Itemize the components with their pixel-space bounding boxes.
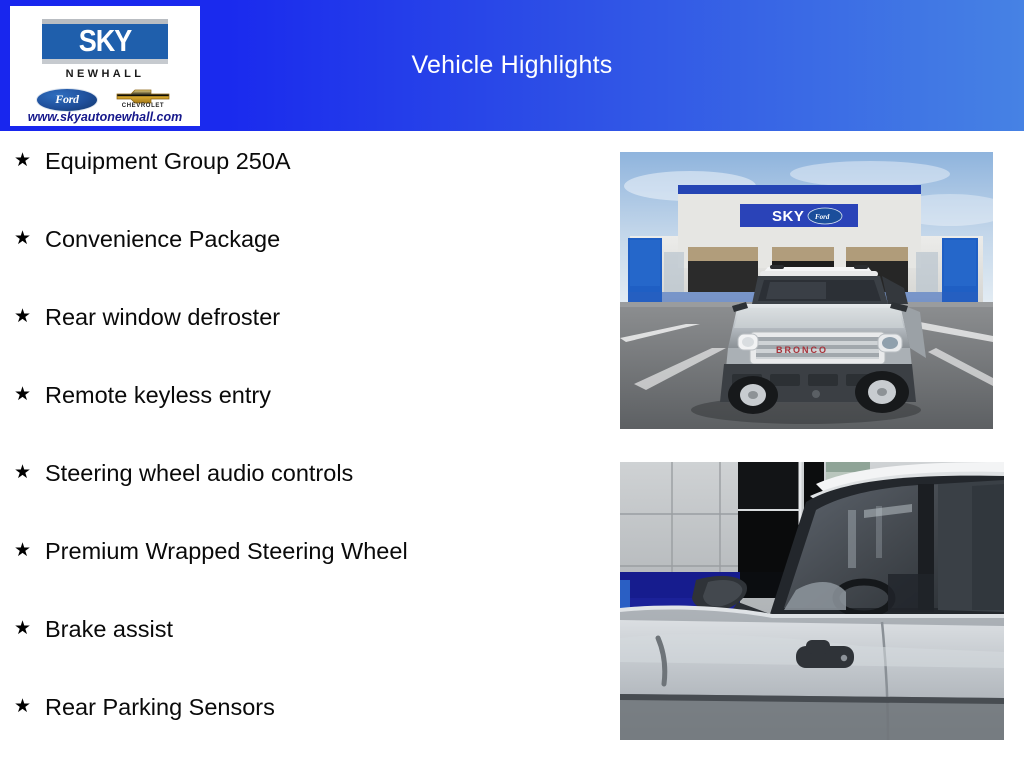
vehicle-side-illustration	[620, 462, 1004, 740]
star-icon: ★	[14, 614, 45, 644]
list-item-label: Equipment Group 250A	[45, 146, 291, 176]
star-icon: ★	[14, 224, 45, 254]
chevrolet-bowtie-icon	[115, 88, 171, 104]
list-item: ★ Rear window defroster	[0, 302, 600, 380]
vehicle-front-illustration: SKY Ford	[620, 152, 993, 429]
list-item-label: Convenience Package	[45, 224, 280, 254]
star-icon: ★	[14, 536, 45, 566]
list-item: ★ Brake assist	[0, 614, 600, 692]
list-item: ★ Premium Wrapped Steering Wheel	[0, 536, 600, 614]
vehicle-highlights-list: ★ Equipment Group 250A ★ Convenience Pac…	[0, 146, 600, 770]
star-icon: ★	[14, 146, 45, 176]
list-item-label: Rear window defroster	[45, 302, 280, 332]
svg-text:BRONCO: BRONCO	[776, 345, 828, 355]
list-item-label: Premium Wrapped Steering Wheel	[45, 536, 408, 566]
list-item: ★ Steering wheel audio controls	[0, 458, 600, 536]
dealer-logo: SKY NEWHALL Ford	[10, 6, 200, 126]
star-icon: ★	[14, 302, 45, 332]
chevrolet-badge: CHEVROLET	[112, 87, 174, 113]
vehicle-side-photo	[620, 462, 1004, 740]
svg-text:SKY: SKY	[772, 208, 804, 225]
list-item: ★ Remote keyless entry	[0, 380, 600, 458]
list-item: ★ Rear Parking Sensors	[0, 692, 600, 770]
sky-badge-body: SKY	[42, 24, 168, 59]
list-item-label: Remote keyless entry	[45, 380, 271, 410]
franchise-badges: Ford CHEVROLET	[10, 86, 200, 113]
dealer-website-url: www.skyautonewhall.com	[10, 110, 200, 124]
chevrolet-wordmark: CHEVROLET	[112, 103, 174, 109]
ford-oval-icon: Ford	[36, 88, 98, 112]
list-item: ★ Equipment Group 250A	[0, 146, 600, 224]
ford-wordmark: Ford	[55, 92, 78, 107]
list-item: ★ Convenience Package	[0, 224, 600, 302]
star-icon: ★	[14, 458, 45, 488]
sky-badge-bottom-bar	[42, 59, 168, 64]
svg-text:Ford: Ford	[815, 213, 830, 221]
vehicle-front-photo: SKY Ford	[620, 152, 993, 429]
sky-wordmark: SKY	[79, 24, 132, 59]
dealer-location-label: NEWHALL	[10, 68, 200, 80]
star-icon: ★	[14, 380, 45, 410]
list-item-label: Steering wheel audio controls	[45, 458, 353, 488]
star-icon: ★	[14, 692, 45, 722]
sky-badge: SKY	[42, 19, 168, 64]
list-item-label: Rear Parking Sensors	[45, 692, 275, 722]
slide-header: Vehicle Highlights SKY NEWHALL Ford	[0, 0, 1024, 131]
list-item-label: Brake assist	[45, 614, 173, 644]
